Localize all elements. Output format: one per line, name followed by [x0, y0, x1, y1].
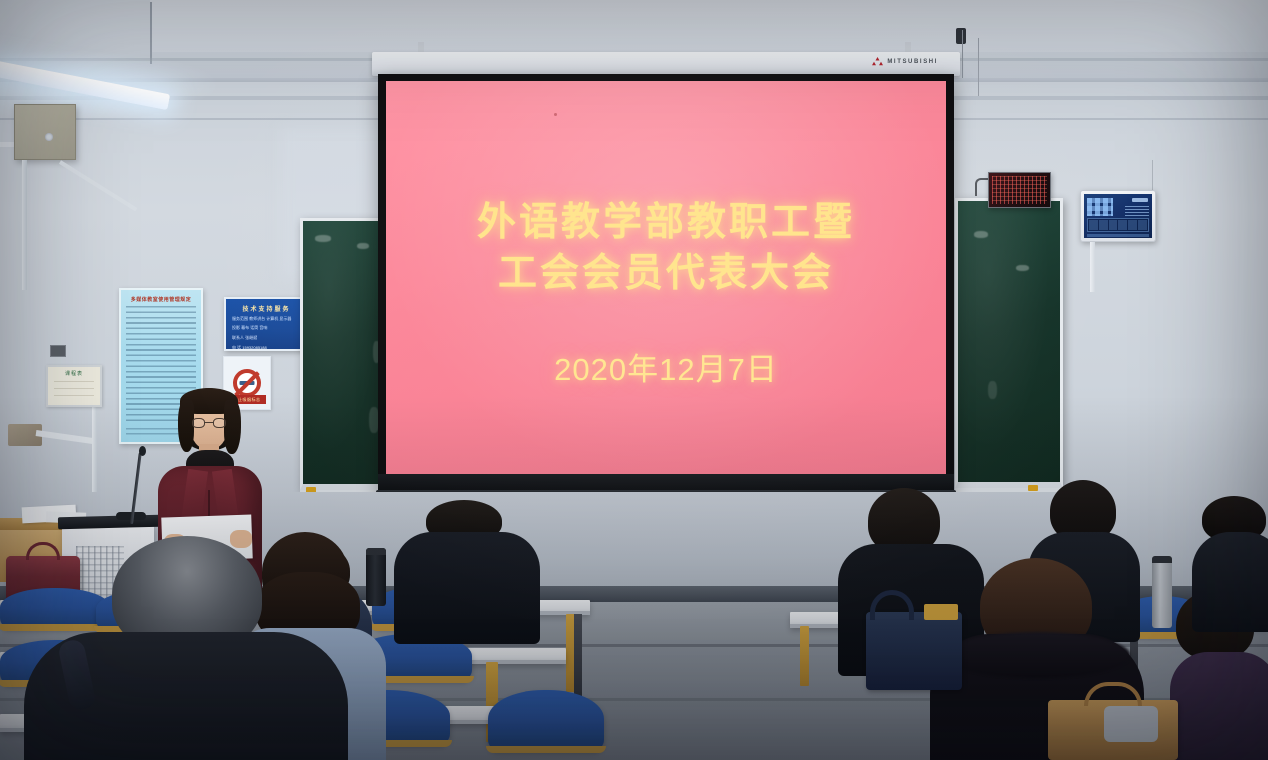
slide-title: 外语教学部教职工暨 工会会员代表大会	[386, 197, 946, 300]
control-panel-button-row[interactable]	[1087, 218, 1149, 232]
projection-screen-housing: MITSUBISHI	[372, 52, 960, 76]
conduit-vertical	[22, 160, 27, 290]
projection-screen-surface: 外语教学部教职工暨 工会会员代表大会 2020年12月7日	[386, 81, 946, 474]
attendee-front-left	[24, 536, 344, 760]
brand-badge: MITSUBISHI	[872, 57, 938, 66]
schedule-board: 课程表	[46, 365, 102, 407]
control-panel-text-lines	[1125, 206, 1149, 216]
control-panel-antenna	[1152, 160, 1153, 192]
brand-text: MITSUBISHI	[887, 59, 938, 65]
ceiling-hanger-wire	[150, 2, 152, 64]
blackboard-right	[955, 198, 1063, 488]
glasses-icon	[192, 418, 226, 428]
control-panel-button[interactable]	[1138, 220, 1147, 230]
hanging-cable	[962, 30, 963, 78]
ceiling-panel	[150, 0, 1268, 52]
led-dot-matrix	[992, 176, 1047, 204]
poster-tech-phone: 电 话 15932085188	[232, 345, 301, 351]
fur-collar	[944, 632, 1130, 678]
projection-screen: 外语教学部教职工暨 工会会员代表大会 2020年12月7日	[378, 74, 954, 492]
presenter-hair-right	[224, 400, 241, 454]
control-panel-button[interactable]	[1109, 220, 1118, 230]
schedule-board-lines	[54, 381, 94, 400]
electrical-box	[14, 104, 76, 160]
mitsubishi-diamond-icon	[872, 57, 883, 66]
control-panel-screen[interactable]	[1084, 194, 1152, 238]
slide-title-line2: 工会会员代表大会	[386, 248, 946, 299]
control-panel-conduit	[1090, 242, 1095, 292]
schedule-board-title: 课程表	[48, 370, 100, 377]
wall-fixture	[50, 345, 66, 357]
cable-clamp	[956, 28, 966, 44]
slide-date: 2020年12月7日	[386, 344, 946, 389]
classroom-photo-scene: 课程表 多媒体教室使用管理规定 技术支持服务 服务范围 教师讲台 计算机 显示器…	[0, 0, 1268, 760]
slide-title-line1: 外语教学部教职工暨	[386, 197, 946, 248]
poster-tech-support: 技术支持服务 服务范围 教师讲台 计算机 显示器 投影 幕布 话筒 音响 联系人…	[224, 297, 309, 351]
attendee-body	[1170, 652, 1268, 760]
chair	[488, 690, 604, 750]
multimedia-control-panel[interactable]	[1080, 190, 1156, 242]
tote-bag-tan	[1048, 700, 1178, 760]
poster-tech-contact: 联系人 张继斌	[232, 335, 301, 341]
control-panel-button[interactable]	[1118, 220, 1127, 230]
attendee-center	[394, 500, 536, 640]
attendee-body	[1192, 532, 1268, 632]
control-panel-status-bar	[1087, 234, 1149, 237]
poster-regulations-title: 多媒体教室使用管理规定	[125, 296, 197, 303]
thermos-cap	[1152, 556, 1172, 563]
bag-navy	[866, 612, 962, 690]
poster-tech-support-title: 技术支持服务	[226, 304, 307, 313]
thermos-silver	[1152, 556, 1172, 628]
bag-accent	[924, 604, 958, 620]
desk-leg	[800, 626, 809, 686]
tote-contents	[1104, 706, 1158, 742]
poster-tech-scope-line1: 服务范围 教师讲台 计算机 显示器	[232, 316, 301, 322]
control-panel-logo	[1132, 198, 1148, 202]
screen-speck	[554, 113, 557, 116]
attendee-right-edge	[1196, 496, 1268, 626]
poster-tech-scope-line2: 投影 幕布 话筒 音响	[232, 325, 301, 331]
microphone-head	[139, 446, 146, 456]
hanging-cable-secondary	[978, 38, 979, 96]
led-matrix-display[interactable]	[988, 172, 1051, 208]
control-panel-button[interactable]	[1128, 220, 1137, 230]
control-panel-button[interactable]	[1099, 220, 1108, 230]
control-panel-button[interactable]	[1089, 220, 1098, 230]
control-panel-thumbnail-grid	[1087, 198, 1113, 216]
attendee-body	[394, 532, 540, 644]
